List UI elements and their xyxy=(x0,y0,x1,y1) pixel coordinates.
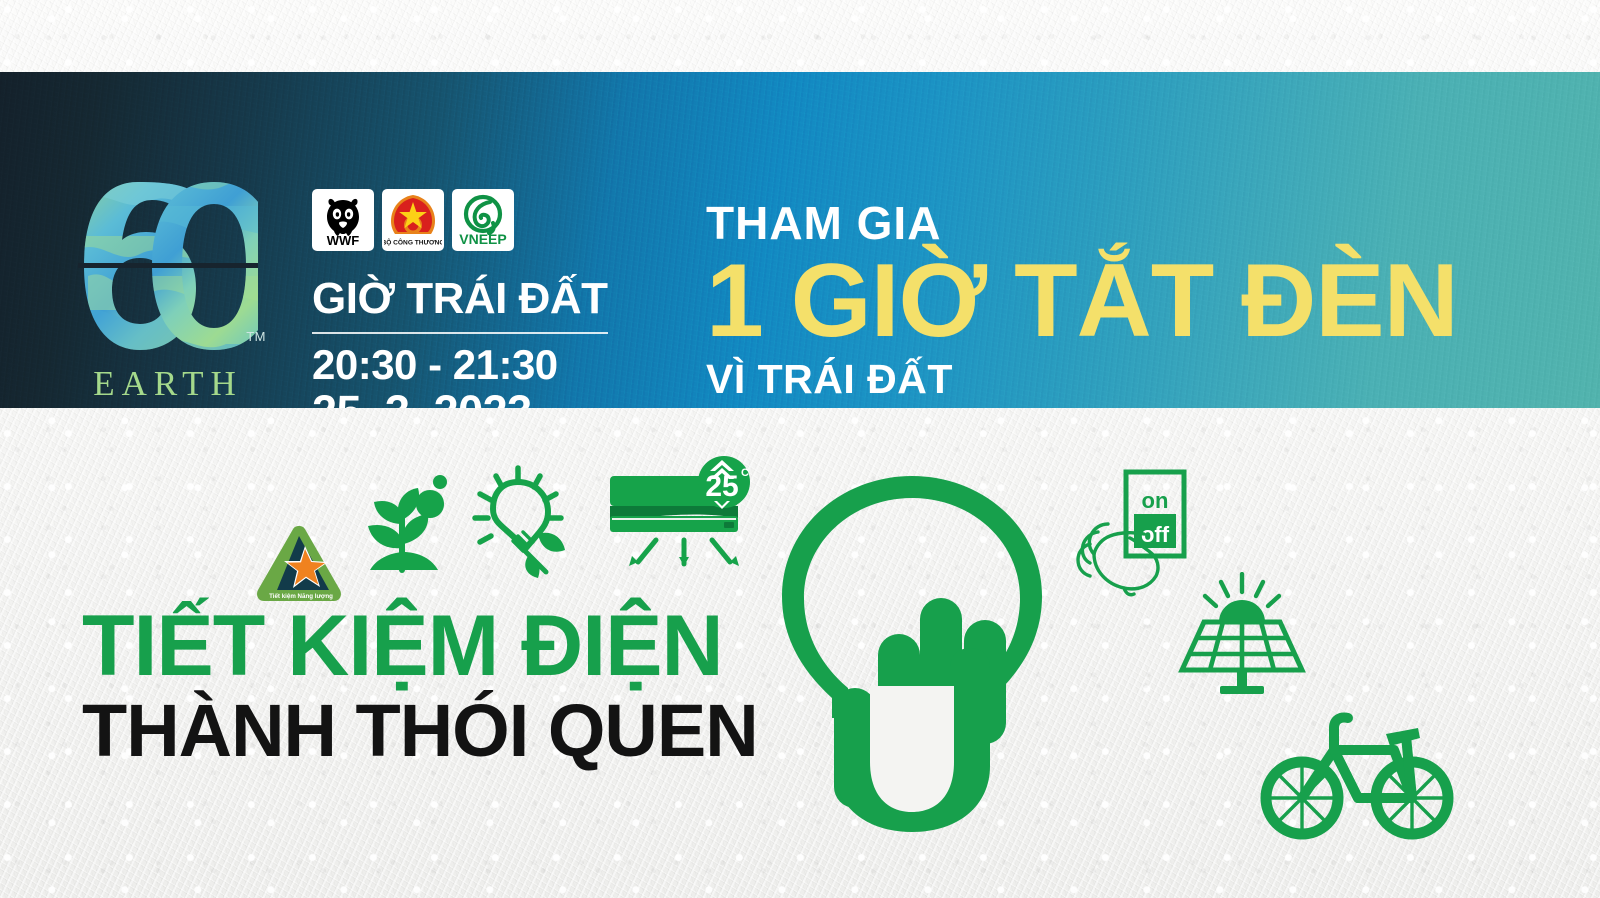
event-title: GIỜ TRÁI ĐẤT xyxy=(312,277,612,321)
ac-temperature-unit: C xyxy=(741,467,749,479)
wwf-panda-icon: WWF xyxy=(315,192,371,248)
vneep-icon: VNEEP xyxy=(455,192,511,248)
air-conditioner-icon: 25 C xyxy=(604,456,764,584)
logo-60-mark: TM xyxy=(78,180,258,352)
earth-hour-60-logo: TM EARTH HOUR xyxy=(78,180,258,408)
eco-lightbulb-icon xyxy=(466,462,576,580)
trademark-symbol: TM xyxy=(246,329,266,344)
bo-cong-thuong-icon: BỘ CÔNG THƯƠNG xyxy=(384,191,442,249)
banner-headline: THAM GIA 1 GIỜ TẮT ĐÈN VÌ TRÁI ĐẤT xyxy=(706,200,1458,400)
headline-kicker: THAM GIA xyxy=(706,200,1458,246)
logo-word-earth: EARTH xyxy=(78,366,258,401)
switch-on-label: on xyxy=(1142,488,1169,513)
vneep-logo: VNEEP xyxy=(452,189,514,251)
energy-saving-label-icon: Tiết kiệm Năng lượng xyxy=(255,520,347,604)
vneep-wordmark: VNEEP xyxy=(459,231,506,247)
bike-frame xyxy=(1302,750,1412,798)
lower-headline-green: TIẾT KIỆM ĐIỆN xyxy=(82,604,758,688)
earth-hour-banner: TM EARTH HOUR xyxy=(0,72,1600,408)
plant-sprout-icon xyxy=(352,462,456,578)
ac-temperature-value: 25 xyxy=(705,470,738,503)
lower-headline: TIẾT KIỆM ĐIỆN THÀNH THÓI QUEN xyxy=(82,604,758,768)
vietnam-emblem-logo: BỘ CÔNG THƯƠNG xyxy=(382,189,444,251)
event-date: 25. 3. 2023 xyxy=(312,387,612,408)
bo-cong-thuong-wordmark: BỘ CÔNG THƯƠNG xyxy=(384,238,442,247)
lower-headline-black: THÀNH THÓI QUEN xyxy=(82,694,758,768)
event-time: 20:30 - 21:30 xyxy=(312,342,612,387)
headline-sub: VÌ TRÁI ĐẤT xyxy=(706,359,1458,400)
solar-panel-icon xyxy=(1176,572,1308,696)
headline-main: 1 GIỜ TẮT ĐÈN xyxy=(706,252,1458,351)
event-info-block: GIỜ TRÁI ĐẤT 20:30 - 21:30 25. 3. 2023 xyxy=(312,277,612,408)
partner-logos: WWF BỘ CÔNG THƯƠNG xyxy=(312,189,514,251)
sixty-glyph-icon xyxy=(78,180,258,352)
panel-grid xyxy=(1190,622,1294,670)
event-divider xyxy=(312,332,608,334)
lightbulb-hand-icon xyxy=(770,466,1054,842)
wwf-panda-logo: WWF xyxy=(312,189,374,251)
wwf-wordmark: WWF xyxy=(327,233,360,248)
bicycle-icon xyxy=(1258,706,1454,842)
